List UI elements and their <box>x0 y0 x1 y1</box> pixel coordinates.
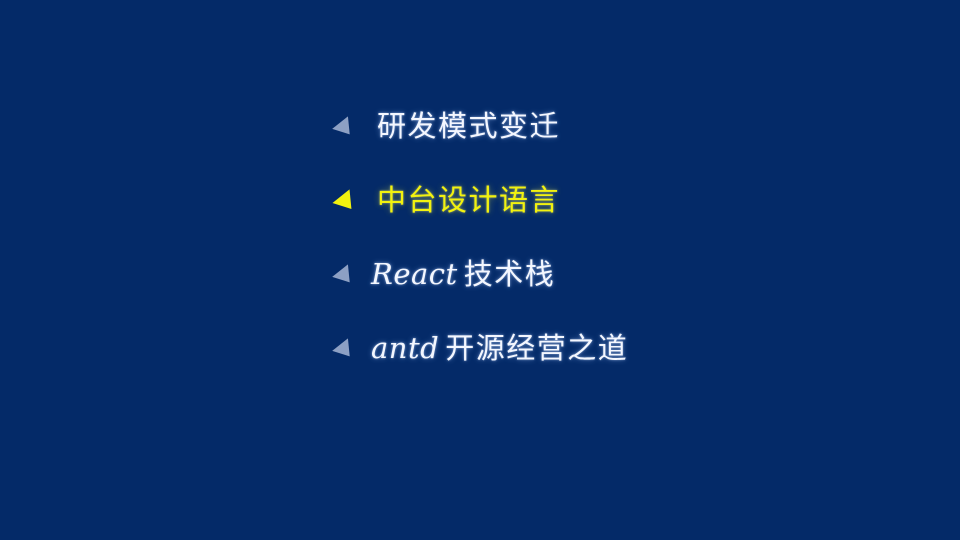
agenda-item-text: 开源经营之道 <box>445 333 628 365</box>
triangle-left-icon <box>325 188 371 214</box>
agenda-item-3[interactable]: React技术栈 <box>325 250 885 300</box>
triangle-left-icon <box>325 263 371 287</box>
agenda-item-latin: React <box>371 257 464 291</box>
agenda-item-label: 中台设计语言 <box>371 184 560 218</box>
agenda-list: 研发模式变迁 中台设计语言 React技术栈 <box>325 102 885 398</box>
triangle-left-icon <box>325 115 371 139</box>
agenda-item-label: React技术栈 <box>371 258 555 292</box>
agenda-item-4[interactable]: antd开源经营之道 <box>325 324 885 374</box>
agenda-item-label: antd开源经营之道 <box>371 332 628 366</box>
agenda-item-latin: antd <box>371 331 445 365</box>
agenda-item-2[interactable]: 中台设计语言 <box>325 176 885 226</box>
agenda-item-text: 技术栈 <box>464 259 556 291</box>
agenda-item-text: 中台设计语言 <box>377 185 560 217</box>
agenda-item-1[interactable]: 研发模式变迁 <box>325 102 885 152</box>
agenda-item-text: 研发模式变迁 <box>377 111 560 143</box>
agenda-item-label: 研发模式变迁 <box>371 110 560 144</box>
presentation-slide: 研发模式变迁 中台设计语言 React技术栈 <box>0 0 960 540</box>
triangle-left-icon <box>325 337 371 361</box>
